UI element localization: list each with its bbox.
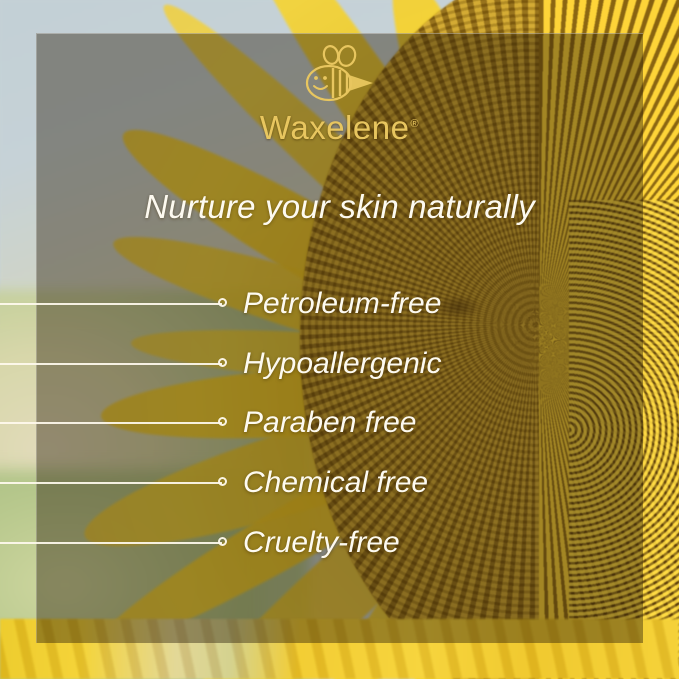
leader-line xyxy=(0,482,222,484)
tagline: Nurture your skin naturally xyxy=(0,188,679,226)
benefit-item: Chemical free xyxy=(0,463,679,503)
benefit-label: Cruelty-free xyxy=(243,523,400,563)
leader-line xyxy=(0,542,222,544)
promo-graphic: Waxelene® Nurture your skin naturally Pe… xyxy=(0,0,679,679)
benefit-label: Petroleum-free xyxy=(243,284,441,324)
leader-line xyxy=(0,303,222,305)
benefit-item: Paraben free xyxy=(0,403,679,443)
brand-lockup: Waxelene® xyxy=(0,45,679,147)
circle-marker xyxy=(218,477,227,486)
benefit-label: Hypoallergenic xyxy=(243,344,441,384)
benefit-label: Paraben free xyxy=(243,403,416,443)
circle-marker xyxy=(218,298,227,307)
benefit-item: Petroleum-free xyxy=(0,284,679,324)
leader-line xyxy=(0,422,222,424)
benefit-item: Cruelty-free xyxy=(0,523,679,563)
registered-trademark-icon: ® xyxy=(410,118,419,130)
benefit-label: Chemical free xyxy=(243,463,428,503)
benefit-item: Hypoallergenic xyxy=(0,344,679,384)
circle-marker xyxy=(218,537,227,546)
circle-marker xyxy=(218,358,227,367)
circle-marker xyxy=(218,417,227,426)
brand-wordmark: Waxelene® xyxy=(260,109,419,147)
bee-icon xyxy=(285,45,395,107)
leader-line xyxy=(0,363,222,365)
brand-wordmark-text: Waxelene xyxy=(260,109,410,146)
